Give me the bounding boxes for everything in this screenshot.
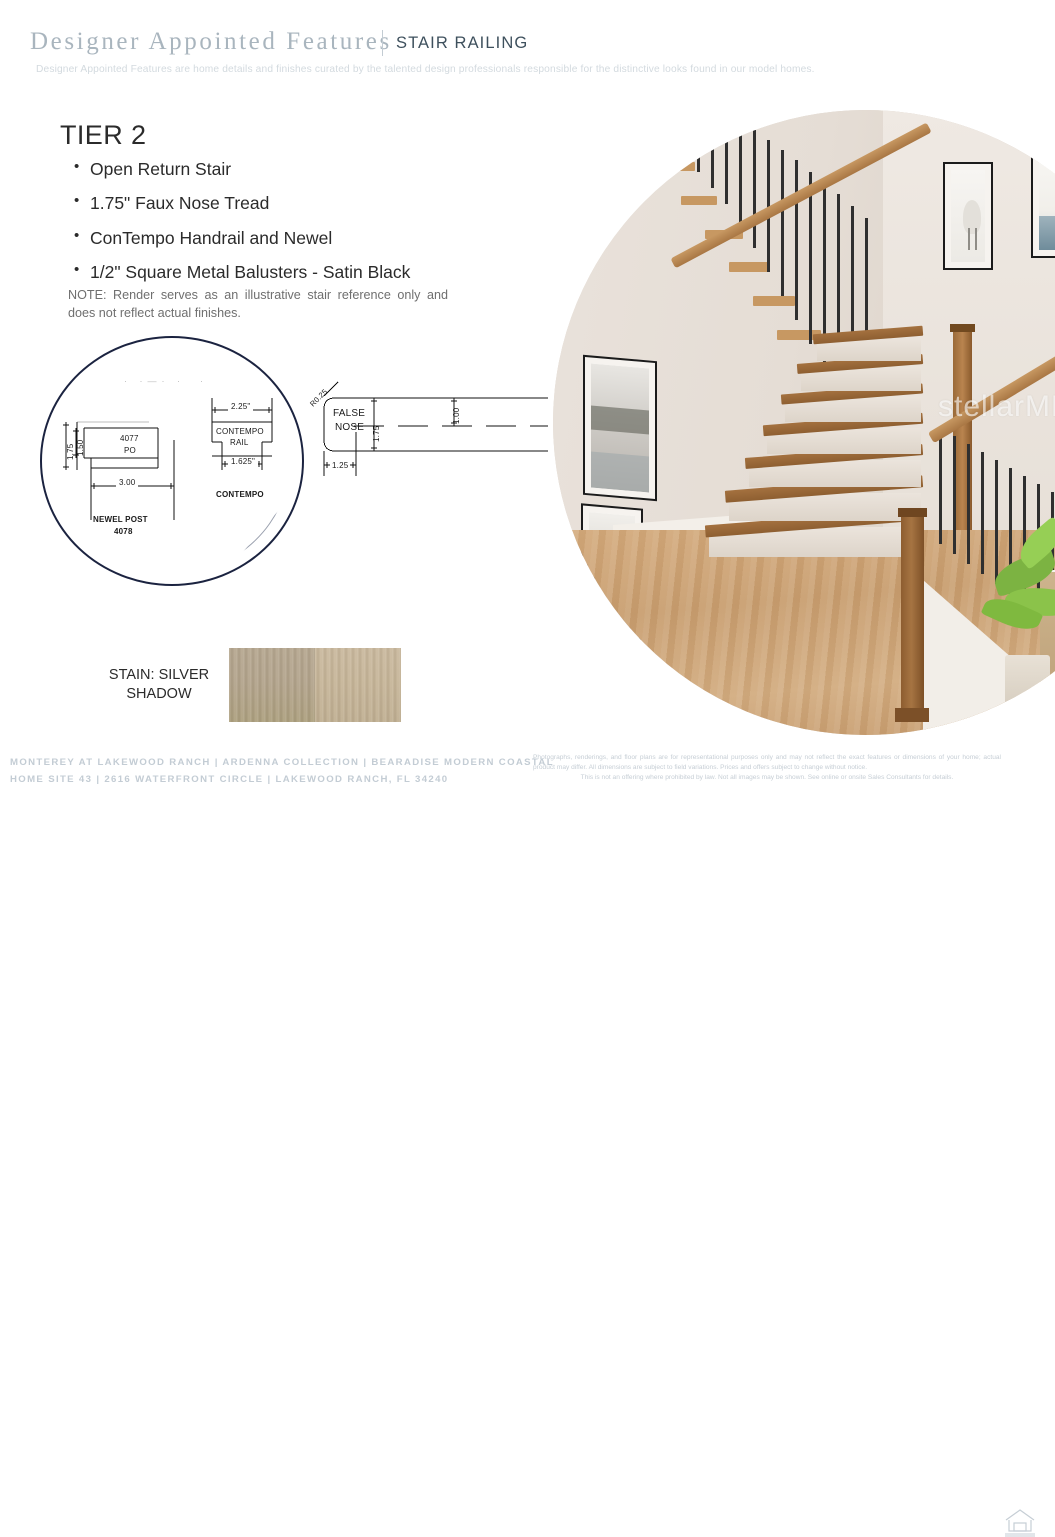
stain-label: STAIN: SILVER SHADOW bbox=[100, 666, 218, 705]
baluster bbox=[795, 160, 798, 320]
legal-disclaimer: Photographs, renderings, and floor plans… bbox=[533, 753, 1001, 784]
plant-pot bbox=[1005, 655, 1050, 707]
framed-art bbox=[583, 355, 657, 501]
list-item: Open Return Stair bbox=[72, 160, 512, 179]
stain-swatch-right bbox=[315, 648, 401, 722]
list-item: 1/2" Square Metal Balusters - Satin Blac… bbox=[72, 263, 512, 282]
newel-cap-upper bbox=[950, 324, 975, 332]
newel-caption-number: 4078 bbox=[114, 527, 133, 536]
upper-step bbox=[729, 262, 769, 272]
page-header: Designer Appointed Features STAIR RAILIN… bbox=[0, 0, 1055, 96]
framed-art bbox=[943, 162, 993, 270]
rail-caption: CONTEMPO bbox=[216, 490, 264, 499]
tier-heading: TIER 2 bbox=[60, 120, 146, 151]
art-mat bbox=[951, 170, 985, 262]
rail-title-line2: RAIL bbox=[230, 438, 249, 447]
section-title: STAIR RAILING bbox=[396, 34, 528, 53]
list-item: 1.75" Faux Nose Tread bbox=[72, 194, 512, 213]
baluster bbox=[683, 110, 686, 158]
upper-step bbox=[753, 296, 795, 306]
art-shape bbox=[591, 405, 649, 434]
header-subtitle: Designer Appointed Features are home det… bbox=[36, 64, 815, 75]
art-shape bbox=[963, 200, 981, 234]
baluster bbox=[995, 460, 998, 584]
baluster bbox=[711, 110, 714, 188]
baluster bbox=[953, 436, 956, 554]
stair-railing-photo: stellarMLS bbox=[553, 110, 1055, 735]
baluster bbox=[981, 452, 984, 574]
framed-art bbox=[1031, 138, 1055, 258]
baluster bbox=[725, 112, 728, 204]
baluster bbox=[697, 110, 700, 172]
dim-tread-nose: 1.00 bbox=[452, 408, 461, 424]
art-mat bbox=[1039, 146, 1055, 250]
baluster bbox=[809, 172, 812, 344]
dim-tread-depth: 1.25 bbox=[330, 461, 350, 470]
page-footer: MONTEREY AT LAKEWOOD RANCH | ARDENNA COL… bbox=[0, 750, 1055, 815]
upper-step bbox=[641, 132, 671, 141]
art-shape bbox=[591, 451, 649, 492]
baluster bbox=[939, 428, 942, 544]
disclaimer-paragraph-1: Photographs, renderings, and floor plans… bbox=[533, 754, 1001, 771]
rail-title-line1: CONTEMPO bbox=[216, 427, 264, 436]
baluster bbox=[753, 130, 756, 248]
render-note: NOTE: Render serves as an illustrative s… bbox=[68, 287, 448, 323]
technical-drawing: · ·—· · · bbox=[36, 330, 556, 590]
newel-caption: NEWEL POST bbox=[93, 515, 148, 524]
community-line-2: HOME SITE 43 | 2616 WATERFRONT CIRCLE | … bbox=[10, 774, 448, 785]
baluster bbox=[967, 444, 970, 564]
title-divider bbox=[382, 30, 383, 56]
tread-label-line2: NOSE bbox=[335, 422, 364, 433]
dim-rail-bottom: 1.625" bbox=[228, 457, 258, 466]
community-info: MONTEREY AT LAKEWOOD RANCH | ARDENNA COL… bbox=[10, 755, 554, 788]
disclaimer-paragraph-2: This is not an offering where prohibited… bbox=[533, 773, 1001, 783]
mls-watermark: stellarMLS bbox=[938, 390, 1055, 424]
baluster bbox=[739, 120, 742, 224]
page-title: Designer Appointed Features bbox=[30, 28, 392, 56]
stain-swatch-left bbox=[229, 648, 315, 722]
art-wave bbox=[1039, 216, 1055, 250]
stain-label-line2: SHADOW bbox=[126, 686, 191, 702]
dim-newel-height-inner: 1.50 bbox=[76, 440, 85, 456]
stain-swatch bbox=[229, 648, 401, 722]
baluster bbox=[669, 110, 672, 140]
dim-newel-width: 3.00 bbox=[116, 478, 138, 487]
community-line-1: MONTEREY AT LAKEWOOD RANCH | ARDENNA COL… bbox=[10, 757, 554, 768]
newel-part-suffix: PO bbox=[124, 446, 136, 455]
art-shape bbox=[975, 228, 977, 250]
newel-base-main bbox=[895, 708, 929, 722]
dim-newel-height-outer: 1.75 bbox=[66, 444, 75, 460]
newel-part-number: 4077 bbox=[120, 434, 139, 443]
dim-rail-top: 2.25" bbox=[228, 402, 253, 411]
list-item: ConTempo Handrail and Newel bbox=[72, 229, 512, 248]
drawing-linework bbox=[36, 330, 556, 590]
equal-housing-opportunity-icon bbox=[1003, 1507, 1037, 1537]
newel-post-main bbox=[901, 514, 924, 714]
art-shape bbox=[968, 228, 970, 250]
art-mat bbox=[591, 363, 649, 492]
upper-step bbox=[681, 196, 717, 205]
feature-list: Open Return Stair 1.75" Faux Nose Tread … bbox=[72, 160, 512, 297]
stain-label-line1: STAIN: SILVER bbox=[109, 667, 209, 683]
newel-cap-main bbox=[898, 508, 927, 517]
upper-step bbox=[661, 162, 695, 171]
tread-label-line1: FALSE bbox=[333, 408, 365, 419]
baluster bbox=[781, 150, 784, 296]
dim-tread-thickness: 1.75 bbox=[372, 426, 381, 442]
